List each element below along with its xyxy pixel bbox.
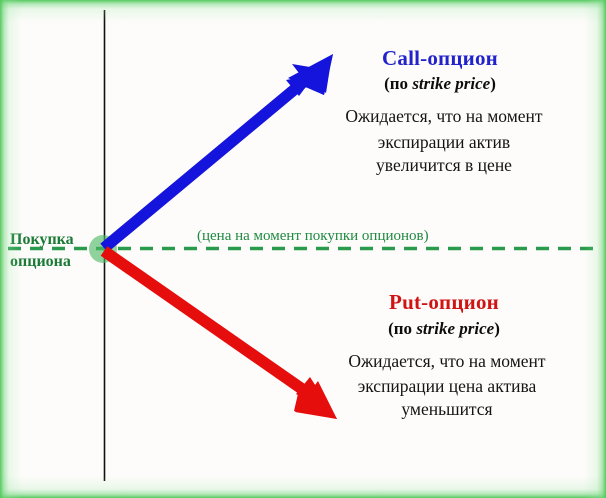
put-subtitle-emphasis: strike price <box>416 319 494 338</box>
put-body-line-1: Ожидается, что на момент <box>348 353 545 371</box>
put-subtitle-prefix: (по <box>388 319 416 338</box>
put-body-line-2: экспирации цена актива <box>358 378 537 396</box>
call-subtitle: (по strike price) <box>384 75 496 92</box>
origin-label-line-2: опциона <box>10 254 71 270</box>
call-subtitle-suffix: ) <box>490 74 496 93</box>
put-subtitle: (по strike price) <box>388 320 500 337</box>
call-subtitle-prefix: (по <box>384 74 412 93</box>
call-body-line-2: экспирации актив <box>378 134 510 152</box>
put-arrow-down-right <box>104 251 337 419</box>
put-body-line-3: уменьшится <box>401 401 492 419</box>
call-body-line-1: Ожидается, что на момент <box>345 108 542 126</box>
call-subtitle-emphasis: strike price <box>412 74 490 93</box>
put-subtitle-suffix: ) <box>494 319 500 338</box>
baseline-caption: (цена на момент покупки опционов) <box>197 229 429 244</box>
call-arrow-up-right <box>104 54 333 248</box>
diagram-canvas: Покупка опциона (цена на момент покупки … <box>0 0 606 498</box>
origin-label-line-1: Покупка <box>10 232 74 248</box>
put-heading: Put-опцион <box>389 292 499 313</box>
call-heading: Call-опцион <box>382 48 498 69</box>
call-body-line-3: увеличится в цене <box>376 157 512 175</box>
diagram-vector-layer <box>0 0 606 498</box>
